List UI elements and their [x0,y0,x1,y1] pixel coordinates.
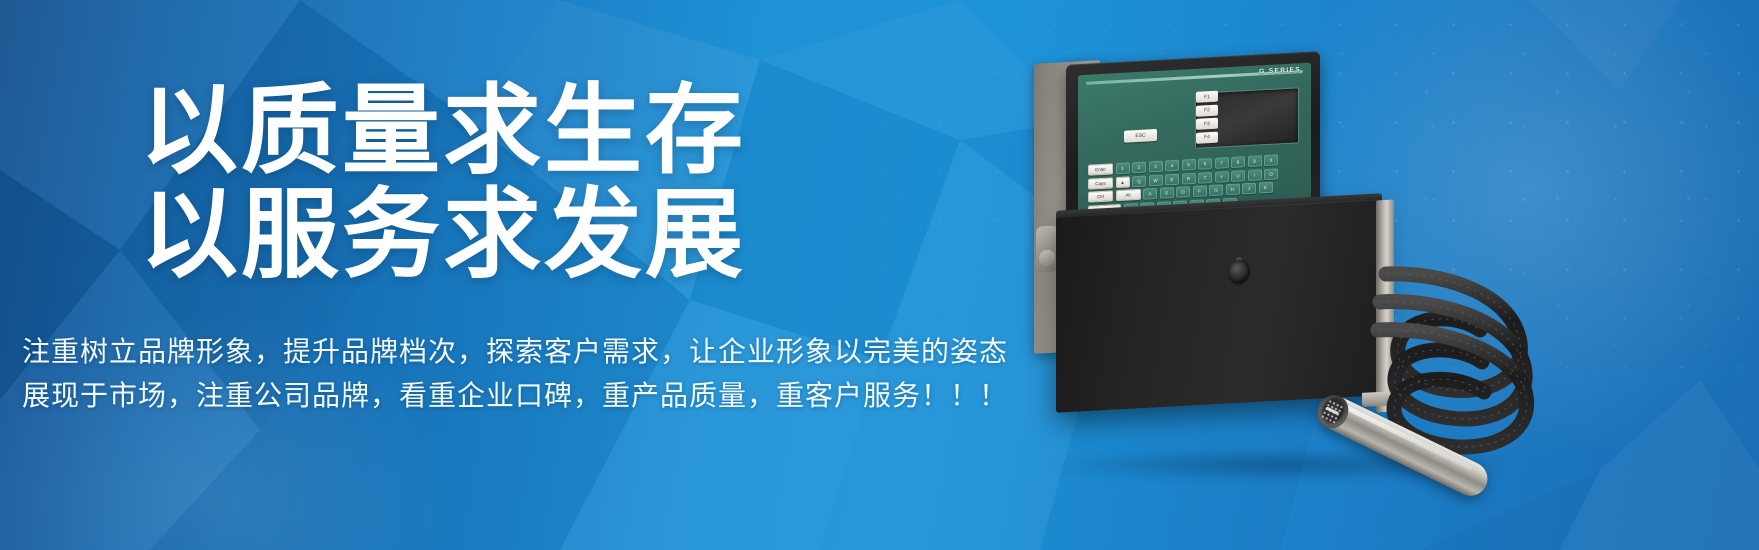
key-7[interactable]: 7 [1215,157,1229,169]
key-t[interactable]: T [1198,171,1212,183]
latch-ring [1228,259,1250,284]
device-brand-label: G SERIES [1259,66,1301,75]
key-arrow-up-icon[interactable]: ▲ [1116,176,1130,188]
key-5[interactable]: 5 [1182,159,1196,171]
cabinet-hinge [1036,225,1058,272]
key-o[interactable]: O [1264,168,1278,180]
key-4[interactable]: 4 [1165,160,1179,172]
copy-block: 以质量求生存 以服务求发展 注重树立品牌形象，提升品牌档次，探索客户需求，让企业… [0,0,1000,550]
key-alt[interactable]: Alt [1116,189,1141,201]
key-3[interactable]: 3 [1149,161,1163,173]
escape-key[interactable]: ESC [1124,129,1157,143]
key-u[interactable]: U [1231,170,1245,182]
subcopy: 注重树立品牌形象，提升品牌档次，探索客户需求，让企业形象以完美的姿态 展现于市场… [22,330,1008,418]
key-h[interactable]: H [1226,183,1240,195]
subcopy-line-2: 展现于市场，注重公司品牌，看重企业口碑，重产品质量，重客户服务！！！ [22,374,1008,418]
key-k[interactable]: K [1259,182,1273,194]
headline-line-1: 以质量求生存 [140,75,746,185]
key-a[interactable]: A [1143,188,1157,200]
function-key-f2[interactable]: F2 [1196,104,1218,116]
key-s[interactable]: S [1160,187,1174,199]
key-0[interactable]: 0 [1264,154,1278,166]
function-key-f1[interactable]: F1 [1196,91,1218,103]
key-j[interactable]: J [1242,183,1256,195]
headline-line-2: 以服务求发展 [140,182,746,286]
key-w[interactable]: W [1149,174,1163,186]
key-g[interactable]: G [1209,184,1223,196]
promotional-banner: 以质量求生存 以服务求发展 注重树立品牌形象，提升品牌档次，探索客户需求，让企业… [0,0,1759,550]
key-8[interactable]: 8 [1231,156,1245,168]
key-y[interactable]: Y [1215,171,1229,183]
subcopy-line-1: 注重树立品牌形象，提升品牌档次，探索客户需求，让企业形象以完美的姿态 [22,336,1008,367]
key-ctrl[interactable]: Ctrl [1088,190,1113,202]
key-2[interactable]: 2 [1132,162,1146,174]
key-1[interactable]: 1 [1116,162,1130,174]
key-caps[interactable]: Caps [1088,177,1113,189]
key-i[interactable]: I [1248,169,1262,181]
key-e[interactable]: E [1165,173,1179,185]
key-9[interactable]: 9 [1248,155,1262,167]
function-key-f4[interactable]: F4 [1196,131,1218,143]
key-q[interactable]: Q [1132,175,1146,187]
key-enter[interactable]: Enter [1088,163,1113,175]
function-key-column: F1 F2 F3 F4 [1196,91,1218,146]
function-key-f3[interactable]: F3 [1196,118,1218,130]
key-f[interactable]: F [1193,185,1207,197]
cabinet-door-latch[interactable] [1228,259,1250,284]
key-d[interactable]: D [1176,186,1190,198]
key-r[interactable]: R [1182,172,1196,184]
key-6[interactable]: 6 [1198,158,1212,170]
headline: 以质量求生存 以服务求发展 [140,78,746,286]
industrial-inkjet-printer: G SERIES F1 F2 F3 F4 ESC Enter 1 2 3 4 [1010,40,1630,510]
